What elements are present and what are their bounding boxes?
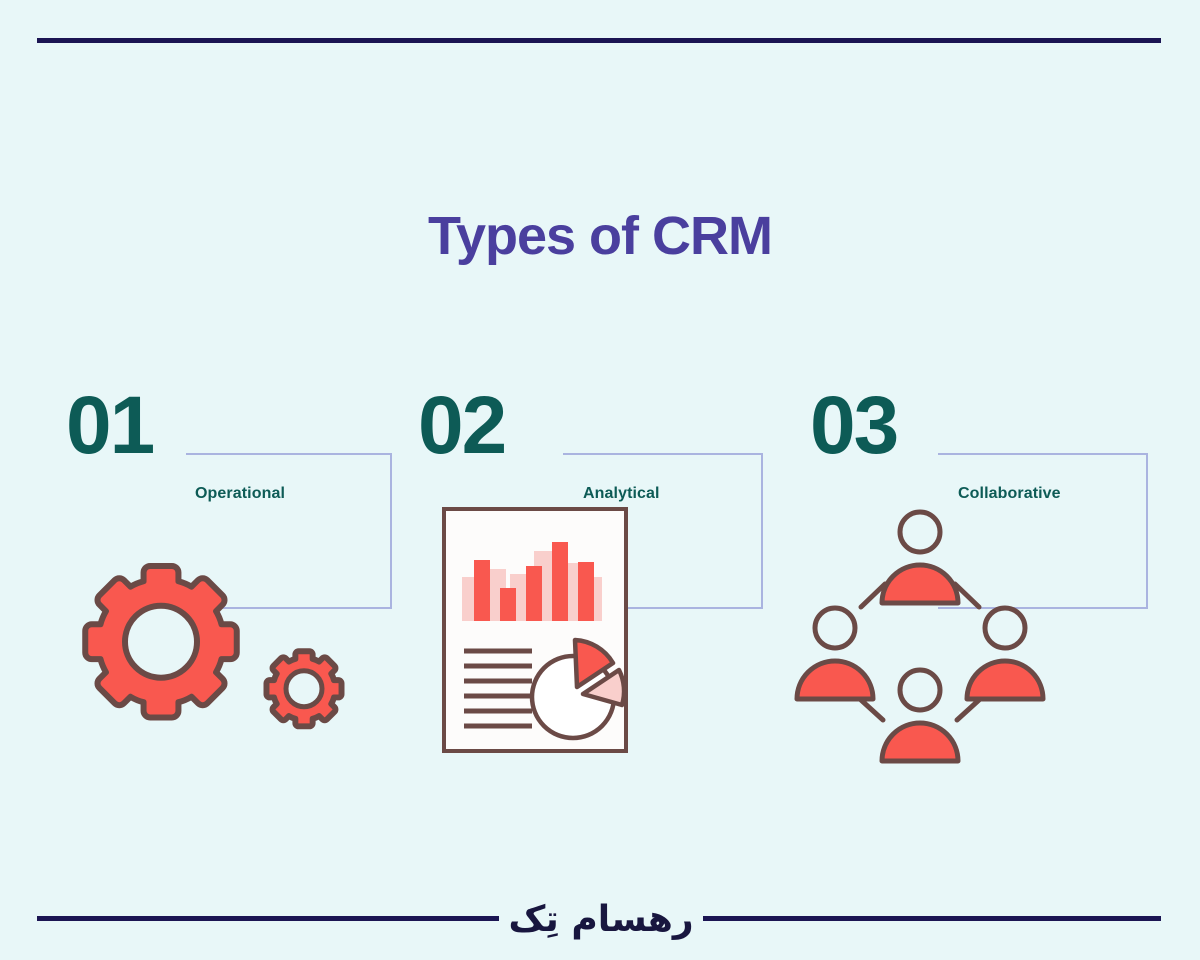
- gears-icon: [48, 505, 368, 760]
- column-collaborative: 03 Collaborative: [790, 0, 1200, 960]
- footer-divider-left: [37, 916, 499, 921]
- column-analytical: 02 Analytical: [400, 0, 790, 960]
- category-label-operational: Operational: [195, 485, 285, 503]
- report-document-icon: [440, 505, 640, 770]
- person-icon-right: [967, 608, 1043, 699]
- small-gear-icon: [266, 651, 341, 726]
- brand-logo: رهسام تِک: [499, 880, 703, 958]
- person-icon-left: [797, 608, 873, 699]
- step-number-02: 02: [418, 385, 505, 467]
- category-label-analytical: Analytical: [583, 485, 660, 503]
- step-number-03: 03: [810, 385, 897, 467]
- step-number-01: 01: [66, 385, 153, 467]
- footer: رهسام تِک: [0, 880, 1200, 960]
- people-network-icon: [790, 500, 1050, 775]
- types-columns: 01 Operational 02 Analytical: [0, 0, 1200, 960]
- person-icon-top: [882, 512, 958, 603]
- large-gear-icon: [85, 566, 237, 718]
- person-icon-bottom: [882, 670, 958, 761]
- footer-divider-right: [703, 916, 1161, 921]
- column-operational: 01 Operational: [0, 0, 400, 960]
